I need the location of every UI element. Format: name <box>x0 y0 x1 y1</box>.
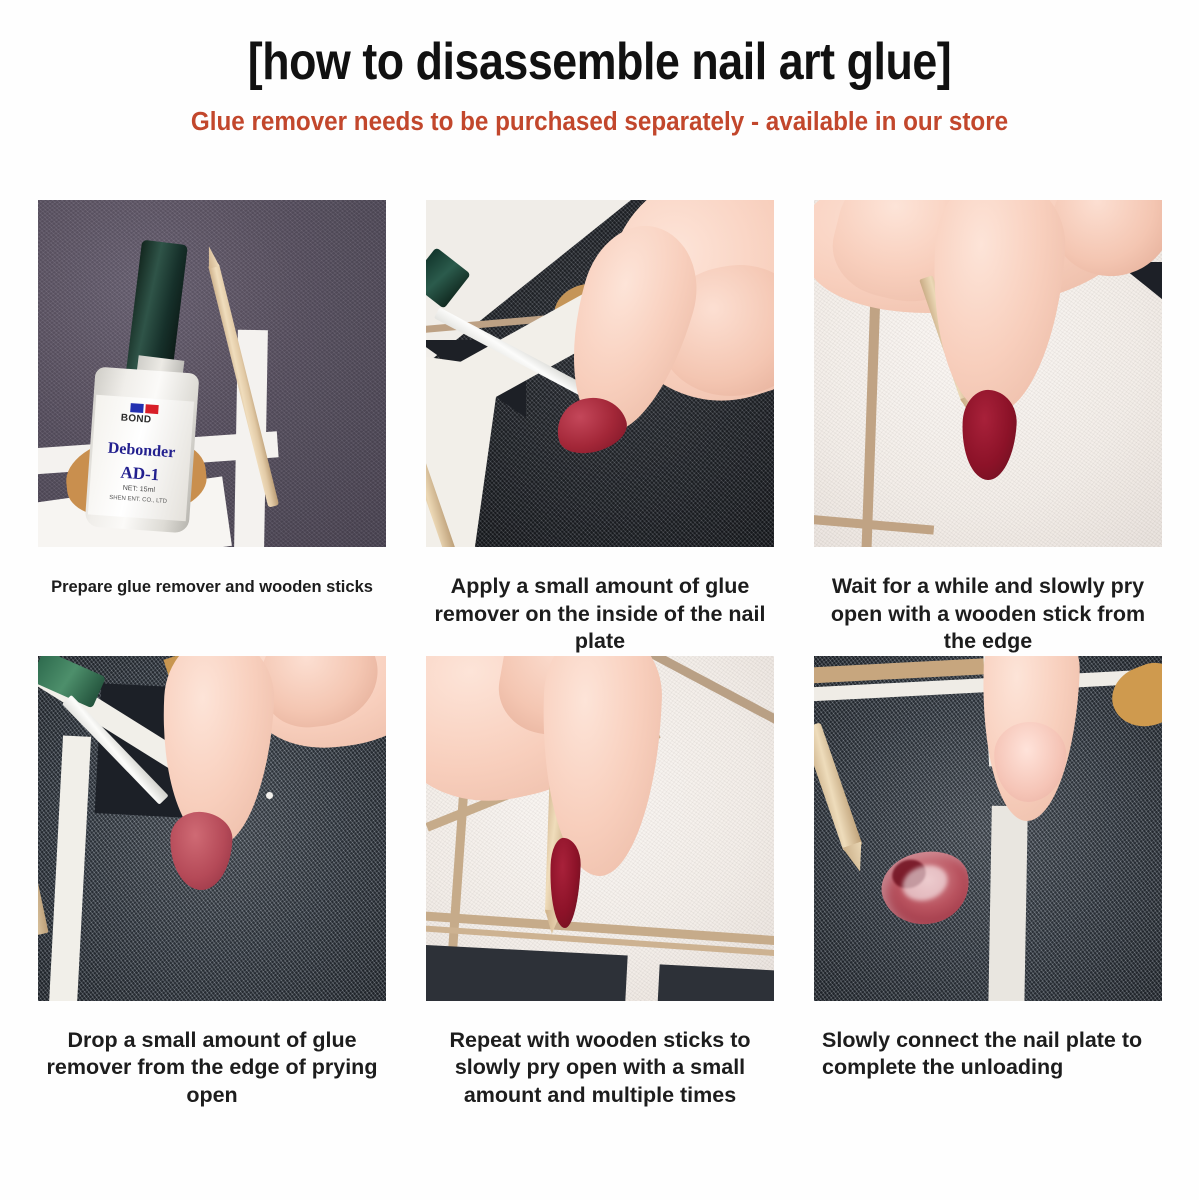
bottle-label: BOND Debonder AD-1 NET: 15ml SHEN ENT. C… <box>88 395 194 522</box>
step-photo-2 <box>426 200 774 547</box>
step-photo-3 <box>814 200 1162 547</box>
step-caption-5: Repeat with wooden sticks to slowly pry … <box>426 1001 774 1110</box>
page-title: [how to disassemble nail art glue] <box>84 36 1115 88</box>
step-card-1: BOND Debonder AD-1 NET: 15ml SHEN ENT. C… <box>38 200 386 656</box>
step-card-2: Apply a small amount of glue remover on … <box>426 200 774 656</box>
steps-grid: BOND Debonder AD-1 NET: 15ml SHEN ENT. C… <box>38 200 1163 1109</box>
step-photo-5 <box>426 656 774 1001</box>
bottle-brand: BOND <box>120 413 151 426</box>
bottle-product-name: Debonder <box>98 439 185 463</box>
dark-rectangle-right <box>657 964 774 1001</box>
header: [how to disassemble nail art glue] Glue … <box>0 0 1199 136</box>
step-caption-3: Wait for a while and slowly pry open wit… <box>814 547 1162 656</box>
step-caption-2: Apply a small amount of glue remover on … <box>426 547 774 656</box>
step-caption-1: Prepare glue remover and wooden sticks <box>38 547 386 598</box>
step-card-5: Repeat with wooden sticks to slowly pry … <box>426 656 774 1110</box>
page-subtitle: Glue remover needs to be purchased separ… <box>30 110 1169 136</box>
step-photo-6 <box>814 656 1162 1001</box>
step-card-3: Wait for a while and slowly pry open wit… <box>814 200 1162 656</box>
step-photo-4 <box>38 656 386 1001</box>
instruction-infographic: [how to disassemble nail art glue] Glue … <box>0 0 1199 1200</box>
step-caption-4: Drop a small amount of glue remover from… <box>38 1001 386 1110</box>
white-stripe-vertical <box>988 805 1028 1000</box>
step-card-6: Slowly connect the nail plate to complet… <box>814 656 1162 1110</box>
step-card-4: Drop a small amount of glue remover from… <box>38 656 386 1110</box>
step-photo-1: BOND Debonder AD-1 NET: 15ml SHEN ENT. C… <box>38 200 386 547</box>
step-caption-6: Slowly connect the nail plate to complet… <box>814 1001 1162 1082</box>
highlight-dot <box>266 792 273 799</box>
bottle-company: SHEN ENT. CO., LTD <box>91 494 185 507</box>
